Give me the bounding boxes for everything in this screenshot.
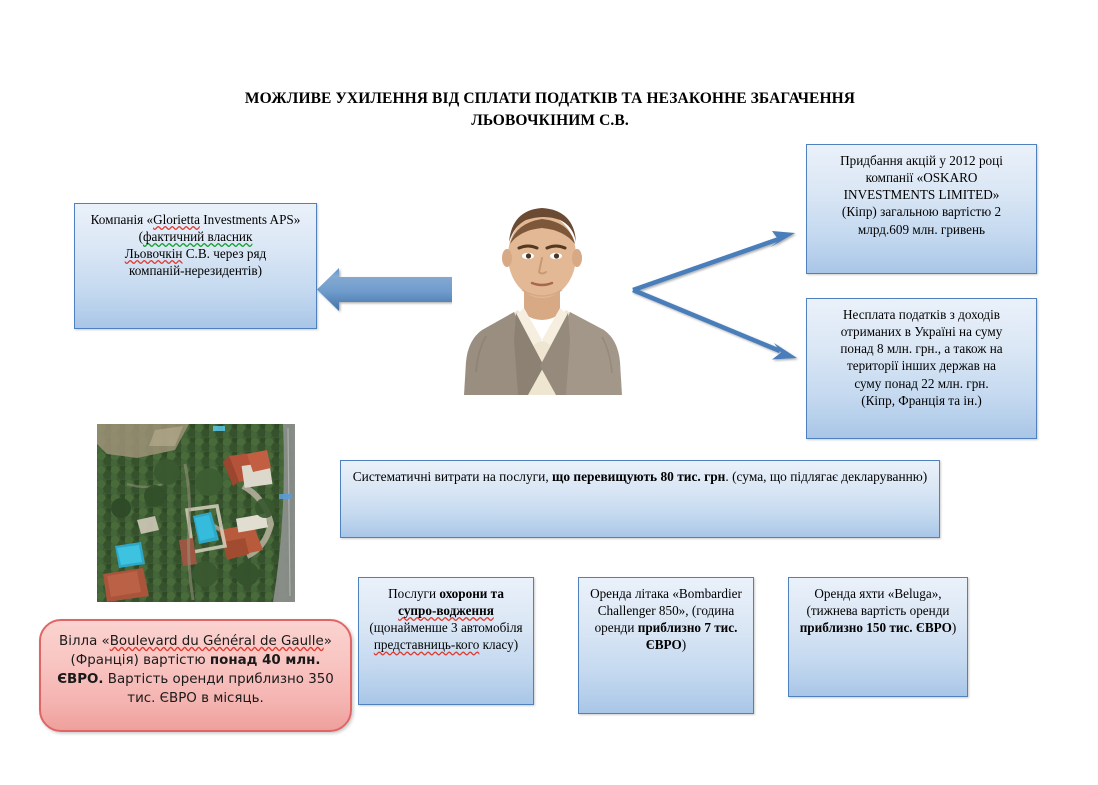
shares-line1: Придбання акцій у 2012 році (840, 153, 1003, 168)
plane-p2: приблизно 7 тис. ЄВРО (638, 620, 738, 652)
taxes-line1: Несплата податків з доходів (843, 307, 1000, 322)
box-expenses-text: Систематичні витрати на послуги, що пере… (349, 468, 931, 485)
box-villa[interactable]: Вілла «Boulevard du Général de Gaulle» (… (39, 619, 352, 732)
page-title: МОЖЛИВЕ УХИЛЕННЯ ВІД СПЛАТИ ПОДАТКІВ ТА … (140, 88, 960, 132)
box-security-text: Послуги охорони та супро-водження (щонай… (367, 585, 525, 654)
shares-line3: INVESTMENTS LIMITED» (844, 187, 1000, 202)
box-plane-text: Оренда літака «Bombardier Challenger 850… (587, 585, 745, 654)
villa-p2: Boulevard du Général de Gaulle (110, 634, 324, 649)
villa-p1: Вілла « (59, 634, 110, 649)
yacht-p2: приблизно 150 тис. ЄВРО (800, 620, 952, 635)
company-line1-c: Investments APS» (200, 212, 300, 227)
taxes-line5: суму понад 22 млн. грн. (854, 376, 988, 391)
yacht-p1: Оренда яхти «Beluga», (тижнева вартість … (807, 586, 950, 618)
arrow-photo-to-taxes (633, 290, 797, 360)
security-p2: охорони та (439, 586, 504, 601)
box-unpaid-taxes[interactable]: Несплата податків з доходів отриманих в … (806, 298, 1037, 439)
title-line-1: МОЖЛИВЕ УХИЛЕННЯ ВІД СПЛАТИ ПОДАТКІВ ТА … (140, 88, 960, 110)
satellite-illustration (97, 424, 295, 602)
arrow-photo-to-shares (633, 231, 795, 290)
company-line4: компаній-нерезидентів) (129, 263, 262, 278)
security-p3: супро-водження (398, 603, 494, 618)
shares-line4: (Кіпр) загальною вартістю 2 (842, 204, 1001, 219)
box-taxes-text: Несплата податків з доходів отриманих в … (815, 306, 1028, 409)
security-p6: класу) (479, 637, 518, 652)
taxes-line6: (Кіпр, Франція та ін.) (861, 393, 982, 408)
security-p1: Послуги (388, 586, 439, 601)
portrait-illustration (452, 190, 632, 395)
shares-line2: компанії «OSKARO (866, 170, 978, 185)
expenses-part1: Систематичні витрати на послуги, (353, 469, 552, 484)
arrow-photo-to-company (317, 268, 452, 311)
title-line-2: ЛЬОВОЧКІНИМ С.В. (140, 110, 960, 132)
portrait-photo (452, 190, 632, 395)
box-yacht-rental[interactable]: Оренда яхти «Beluga», (тижнева вартість … (788, 577, 968, 697)
box-plane-rental[interactable]: Оренда літака «Bombardier Challenger 850… (578, 577, 754, 714)
expenses-part3: . (сума, що підлягає декларуванню) (725, 469, 927, 484)
villa-p5: Вартість оренди приблизно 350 тис. ЄВРО … (104, 672, 334, 706)
taxes-line3: понад 8 млн. грн., а також на (840, 341, 1002, 356)
company-line2-b: фактичний власник (143, 229, 252, 244)
taxes-line4: території інших держав на (847, 358, 996, 373)
box-yacht-text: Оренда яхти «Beluga», (тижнева вартість … (797, 585, 959, 636)
company-line1-a: Компанія « (91, 212, 153, 227)
company-line3-a: Льовочкін (125, 246, 183, 261)
yacht-p3: ) (952, 620, 956, 635)
box-security-services[interactable]: Послуги охорони та супро-водження (щонай… (358, 577, 534, 705)
security-p5: представниць-кого (374, 637, 479, 652)
box-shares-text: Придбання акцій у 2012 році компанії «OS… (815, 152, 1028, 238)
company-line1-b: Glorietta (153, 212, 200, 227)
taxes-line2: отриманих в Україні на суму (841, 324, 1003, 339)
villa-satellite-image (97, 424, 295, 602)
expenses-part2: що перевищують 80 тис. грн (552, 469, 725, 484)
box-company-text: Компанія «Glorietta Investments APS» (фа… (83, 211, 308, 280)
box-company[interactable]: Компанія «Glorietta Investments APS» (фа… (74, 203, 317, 329)
company-line3-b: С.В. через ряд (182, 246, 266, 261)
box-shares-acquisition[interactable]: Придбання акцій у 2012 році компанії «OS… (806, 144, 1037, 274)
box-villa-text: Вілла «Boulevard du Général de Gaulle» (… (55, 632, 336, 708)
plane-p3: ) (682, 637, 686, 652)
security-p4: (щонайменше 3 автомобіля (369, 620, 522, 635)
shares-line5: млрд.609 млн. гривень (858, 222, 985, 237)
box-systematic-expenses[interactable]: Систематичні витрати на послуги, що пере… (340, 460, 940, 538)
diagram-canvas: МОЖЛИВЕ УХИЛЕННЯ ВІД СПЛАТИ ПОДАТКІВ ТА … (0, 0, 1098, 785)
